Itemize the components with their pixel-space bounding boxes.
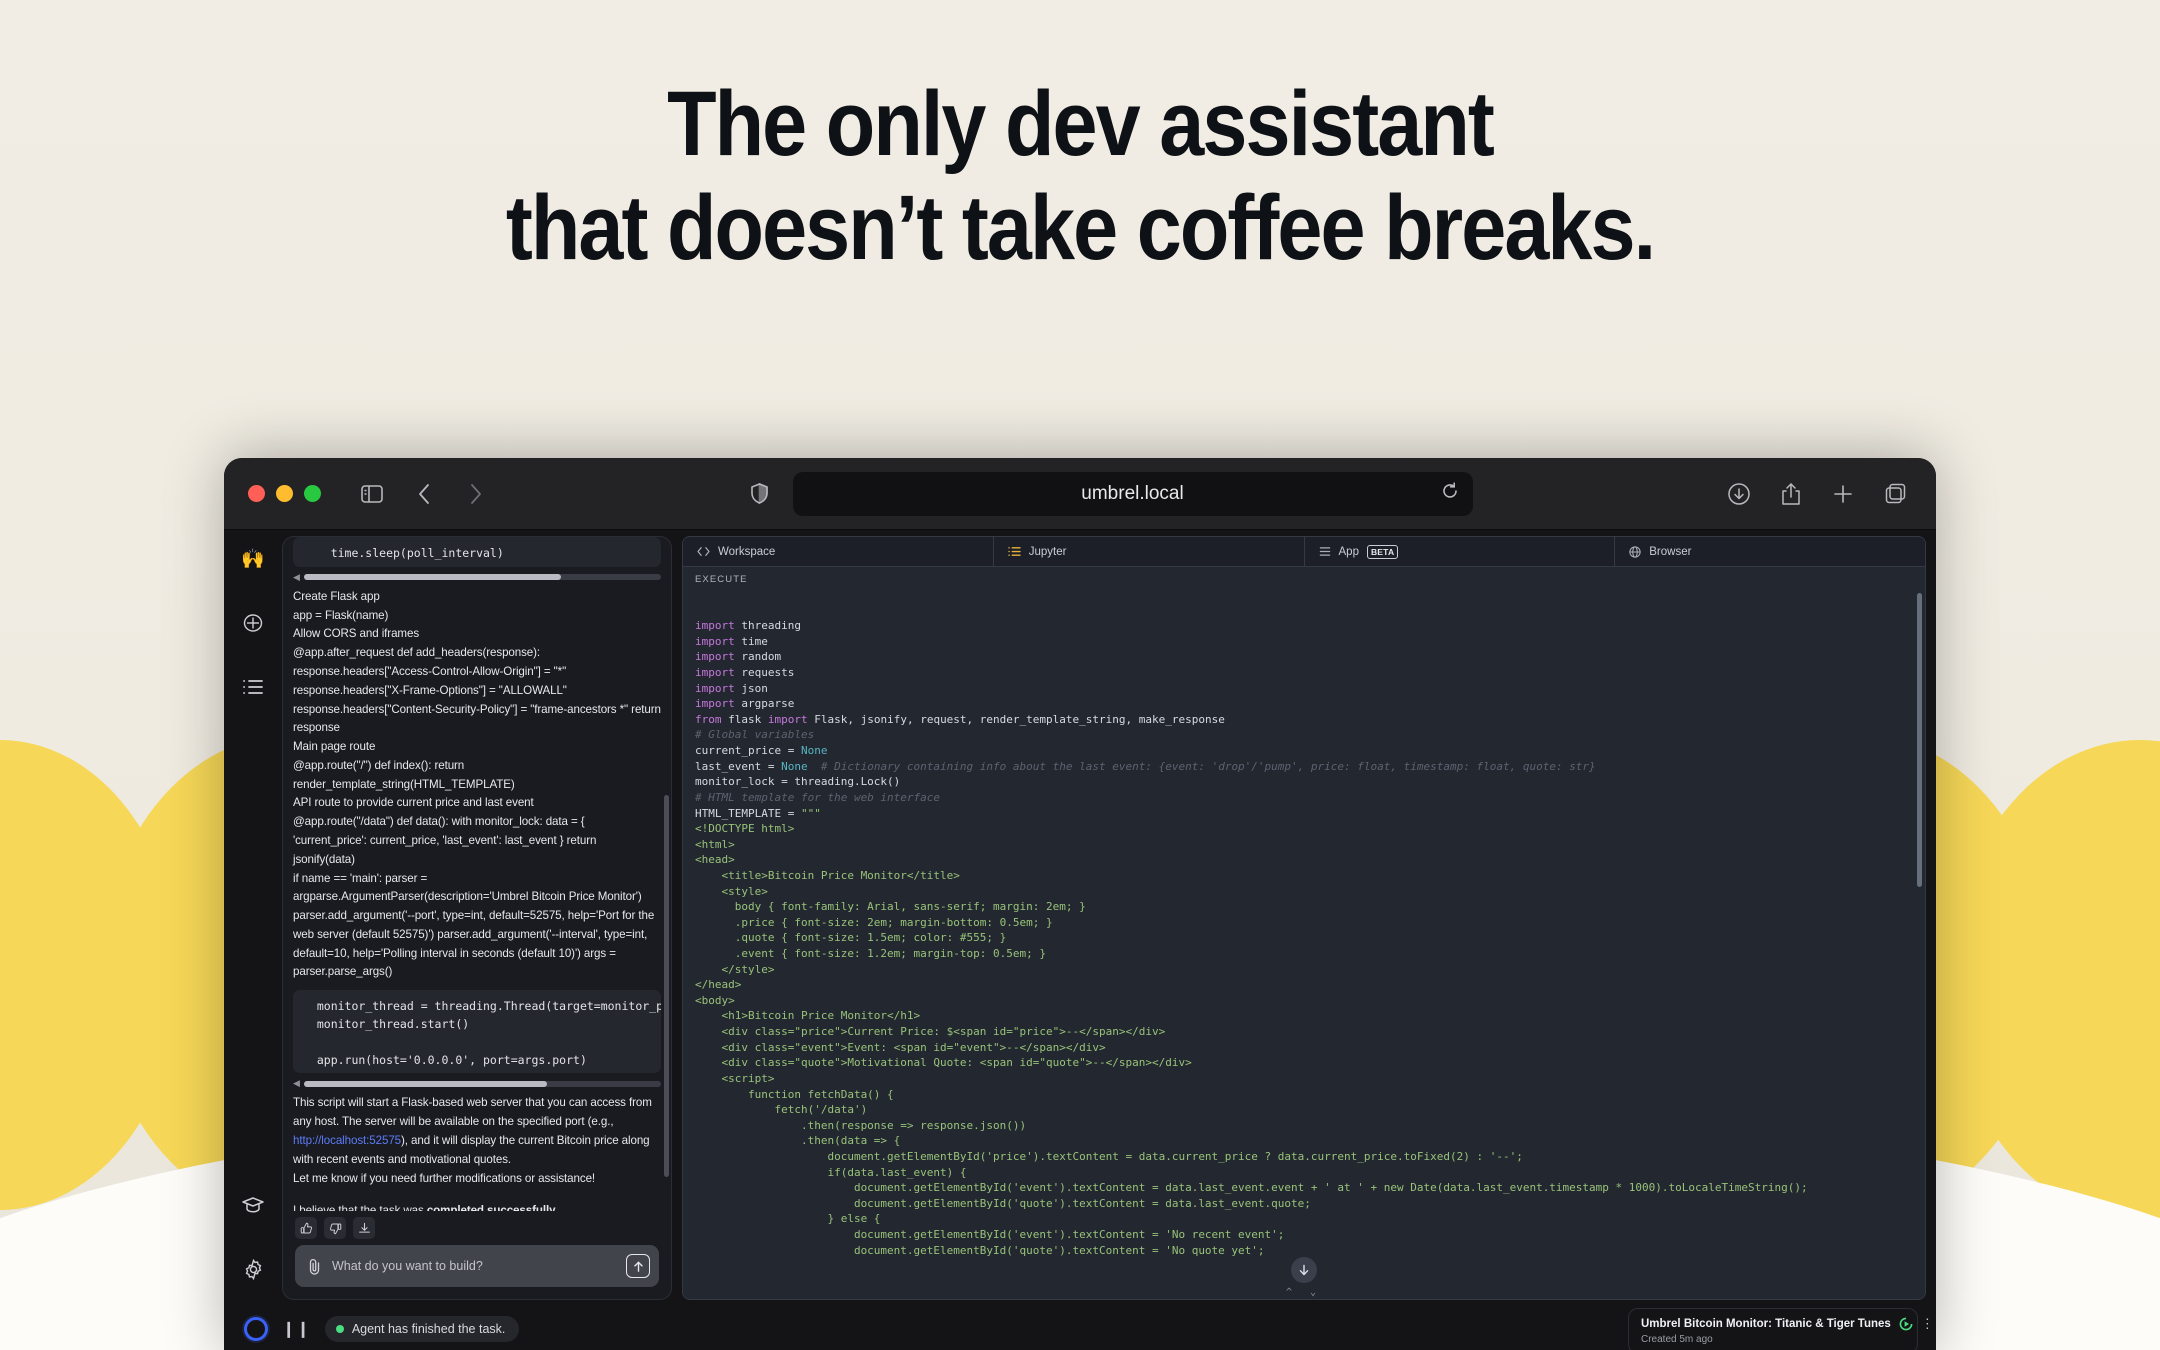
scroll-left-arrow-icon[interactable]: ◀ [293, 1079, 300, 1088]
new-chat-icon[interactable] [238, 608, 268, 638]
code-line: <style> [695, 884, 1913, 900]
code-line: # Global variables [695, 727, 1913, 743]
tab-jupyter[interactable]: Jupyter [994, 537, 1305, 566]
composer-placeholder: What do you want to build? [332, 1259, 616, 1273]
browser-window: umbrel.local [224, 458, 1936, 1350]
tab-app[interactable]: App BETA [1305, 537, 1616, 566]
globe-icon [1629, 546, 1641, 558]
tab-browser[interactable]: Browser [1615, 537, 1925, 566]
tab-label: Jupyter [1029, 546, 1067, 558]
chat-code-block: monitor_thread = threading.Thread(target… [293, 990, 661, 1073]
chat-vertical-scrollbar[interactable] [664, 545, 669, 1203]
workspace-tabs: Workspace Jupyter [683, 537, 1925, 567]
kebab-menu-icon[interactable]: ⋮ [1921, 1320, 1934, 1328]
chat-panel: time.sleep(poll_interval) ◀ Create Flask… [282, 530, 682, 1300]
address-bar-region: umbrel.local [511, 472, 1704, 516]
toast-title: Umbrel Bitcoin Monitor: Titanic & Tiger … [1641, 1318, 1891, 1330]
back-icon[interactable] [407, 477, 441, 511]
final-verdict: I believe that the task was completed su… [293, 1202, 661, 1211]
status-bar: ❙❙ Agent has finished the task. Umbrel B… [224, 1300, 1936, 1350]
code-line: .event { font-size: 1.2em; margin-top: 0… [695, 946, 1913, 962]
send-arrow-icon[interactable] [626, 1254, 650, 1278]
code-line: <h1>Bitcoin Price Monitor</h1> [695, 1008, 1913, 1024]
workspace-panel: Workspace Jupyter [682, 536, 1926, 1300]
close-window-button[interactable] [248, 485, 265, 502]
code-line: </style> [695, 962, 1913, 978]
assistant-outro: This script will start a Flask-based web… [293, 1094, 661, 1211]
composer[interactable]: What do you want to build? [295, 1245, 659, 1287]
code-line: </head> [695, 977, 1913, 993]
code-line: <div class="price">Current Price: $<span… [695, 1024, 1913, 1040]
download-icon[interactable] [353, 1217, 375, 1239]
tab-overview-icon[interactable] [1878, 477, 1912, 511]
list-icon[interactable] [238, 672, 268, 702]
code-line: current_price = None [695, 743, 1913, 759]
code-lines: import threadingimport timeimport random… [695, 618, 1913, 1258]
code-viewer[interactable]: import threadingimport timeimport random… [683, 587, 1925, 1299]
code-line: import requests [695, 665, 1913, 681]
headline-line-2: that doesn’t take coffee breaks. [130, 182, 2031, 276]
tab-workspace[interactable]: Workspace [683, 537, 994, 566]
chat-card: time.sleep(poll_interval) ◀ Create Flask… [282, 536, 672, 1300]
reload-icon[interactable] [1441, 482, 1459, 506]
code-block-horizontal-scrollbar[interactable]: ◀ [293, 1079, 661, 1088]
code-line: document.getElementById('quote').textCon… [695, 1243, 1913, 1259]
code-line: function fetchData() { [695, 1087, 1913, 1103]
play-circle-icon[interactable] [1899, 1317, 1913, 1331]
zoom-window-button[interactable] [304, 485, 321, 502]
code-brackets-icon [697, 546, 710, 557]
code-line: HTML_TEMPLATE = """ [695, 806, 1913, 822]
left-rail: 🙌 [224, 530, 282, 1300]
code-line: document.getElementById('price').textCon… [695, 1149, 1913, 1165]
code-line: document.getElementById('event').textCon… [695, 1227, 1913, 1243]
scroll-left-arrow-icon[interactable]: ◀ [293, 573, 300, 582]
message-line: if name == 'main': parser = argparse.Arg… [293, 870, 661, 983]
code-line: monitor_lock = threading.Lock() [695, 774, 1913, 790]
status-dot [336, 1325, 344, 1333]
outro-line-2: Let me know if you need further modifica… [293, 1170, 661, 1189]
outro-paragraph: This script will start a Flask-based web… [293, 1094, 661, 1169]
agent-status-badge: Agent has finished the task. [325, 1316, 520, 1342]
code-line: <div class="event">Event: <span id="even… [695, 1040, 1913, 1056]
pause-icon[interactable]: ❙❙ [282, 1319, 311, 1339]
sidebar-toggle-icon[interactable] [355, 477, 389, 511]
paperclip-icon[interactable] [307, 1258, 322, 1275]
share-icon[interactable] [1774, 477, 1808, 511]
code-line: } else { [695, 1211, 1913, 1227]
beta-badge: BETA [1367, 545, 1398, 559]
code-vertical-scrollbar[interactable] [1917, 593, 1922, 1293]
code-line: .quote { font-size: 1.5em; color: #555; … [695, 930, 1913, 946]
code-horizontal-scrollbar[interactable]: ◀ [293, 573, 661, 582]
outro-pre: This script will start a Flask-based web… [293, 1096, 652, 1128]
code-line: <head> [695, 852, 1913, 868]
code-line: import argparse [695, 696, 1913, 712]
code-line: .price { font-size: 2em; margin-bottom: … [695, 915, 1913, 931]
code-line: import json [695, 681, 1913, 697]
headline-line-1: The only dev assistant [667, 73, 1493, 175]
window-traffic-lights[interactable] [248, 485, 321, 502]
downloads-icon[interactable] [1722, 477, 1756, 511]
assistant-message: Create Flask app app = Flask(name) Allow… [293, 588, 661, 982]
code-line: import threading [695, 618, 1913, 634]
tab-label: App [1339, 546, 1359, 558]
message-line: @app.route("/data") def data(): with mon… [293, 813, 661, 869]
agent-orb-icon [244, 1317, 268, 1341]
url-text: umbrel.local [1081, 483, 1183, 505]
code-line: <html> [695, 837, 1913, 853]
forward-icon[interactable] [459, 477, 493, 511]
code-line: import random [695, 649, 1913, 665]
shield-icon[interactable] [743, 477, 777, 511]
localhost-link[interactable]: http://localhost:52575 [293, 1134, 401, 1147]
thumbs-down-icon[interactable] [324, 1217, 346, 1239]
code-line: last_event = None # Dictionary containin… [695, 759, 1913, 775]
code-line: fetch('/data') [695, 1102, 1913, 1118]
code-line: <!DOCTYPE html> [695, 821, 1913, 837]
execute-label: EXECUTE [683, 567, 1925, 587]
final-bold: completed successfully. [427, 1204, 558, 1211]
jupyter-list-icon [1008, 546, 1021, 557]
code-line: import time [695, 634, 1913, 650]
code-line: document.getElementById('quote').textCon… [695, 1196, 1913, 1212]
code-line: <title>Bitcoin Price Monitor</title> [695, 868, 1913, 884]
code-line: <div class="quote">Motivational Quote: <… [695, 1055, 1913, 1071]
minimize-window-button[interactable] [276, 485, 293, 502]
academy-icon[interactable] [238, 1190, 268, 1220]
browser-titlebar: umbrel.local [224, 458, 1936, 530]
agent-status-text: Agent has finished the task. [352, 1322, 506, 1336]
app-lines-icon [1319, 546, 1331, 557]
message-line: app = Flask(name) [293, 607, 661, 626]
address-bar[interactable]: umbrel.local [793, 472, 1473, 516]
panel-resize-chevrons-icon[interactable]: ^ ⌄ [1286, 1286, 1322, 1299]
message-line: @app.route("/") def index(): return rend… [293, 757, 661, 795]
app-toast-card[interactable]: Umbrel Bitcoin Monitor: Titanic & Tiger … [1628, 1308, 1918, 1350]
scroll-down-icon[interactable] [1291, 1257, 1317, 1283]
message-line: @app.after_request def add_headers(respo… [293, 644, 661, 738]
app-body: 🙌 [224, 530, 1936, 1300]
code-line: if(data.last_event) { [695, 1165, 1913, 1181]
message-line: API route to provide current price and l… [293, 794, 661, 813]
settings-icon[interactable] [238, 1254, 268, 1284]
message-line: Main page route [293, 738, 661, 757]
code-line: <script> [695, 1071, 1913, 1087]
feedback-buttons [283, 1211, 671, 1243]
tab-label: Workspace [718, 546, 775, 558]
chat-top-code-snippet: time.sleep(poll_interval) [293, 537, 661, 567]
code-line: <body> [695, 993, 1913, 1009]
code-line: .then(data => { [695, 1133, 1913, 1149]
new-tab-icon[interactable] [1826, 477, 1860, 511]
raised-hands-icon[interactable]: 🙌 [238, 544, 268, 574]
message-line: Allow CORS and iframes [293, 625, 661, 644]
thumbs-up-icon[interactable] [295, 1217, 317, 1239]
code-line: .then(response => response.json()) [695, 1118, 1913, 1134]
code-line: document.getElementById('event').textCon… [695, 1180, 1913, 1196]
code-line: from flask import Flask, jsonify, reques… [695, 712, 1913, 728]
message-line: Create Flask app [293, 588, 661, 607]
toast-subtitle: Created 5m ago [1641, 1334, 1905, 1345]
final-plain: I believe that the task was [293, 1204, 427, 1211]
code-line: # HTML template for the web interface [695, 790, 1913, 806]
page-title: The only dev assistant that doesn’t take… [130, 78, 2031, 276]
code-line: body { font-family: Arial, sans-serif; m… [695, 899, 1913, 915]
tab-label: Browser [1649, 546, 1691, 558]
chat-scroll-region[interactable]: time.sleep(poll_interval) ◀ Create Flask… [283, 537, 671, 1211]
